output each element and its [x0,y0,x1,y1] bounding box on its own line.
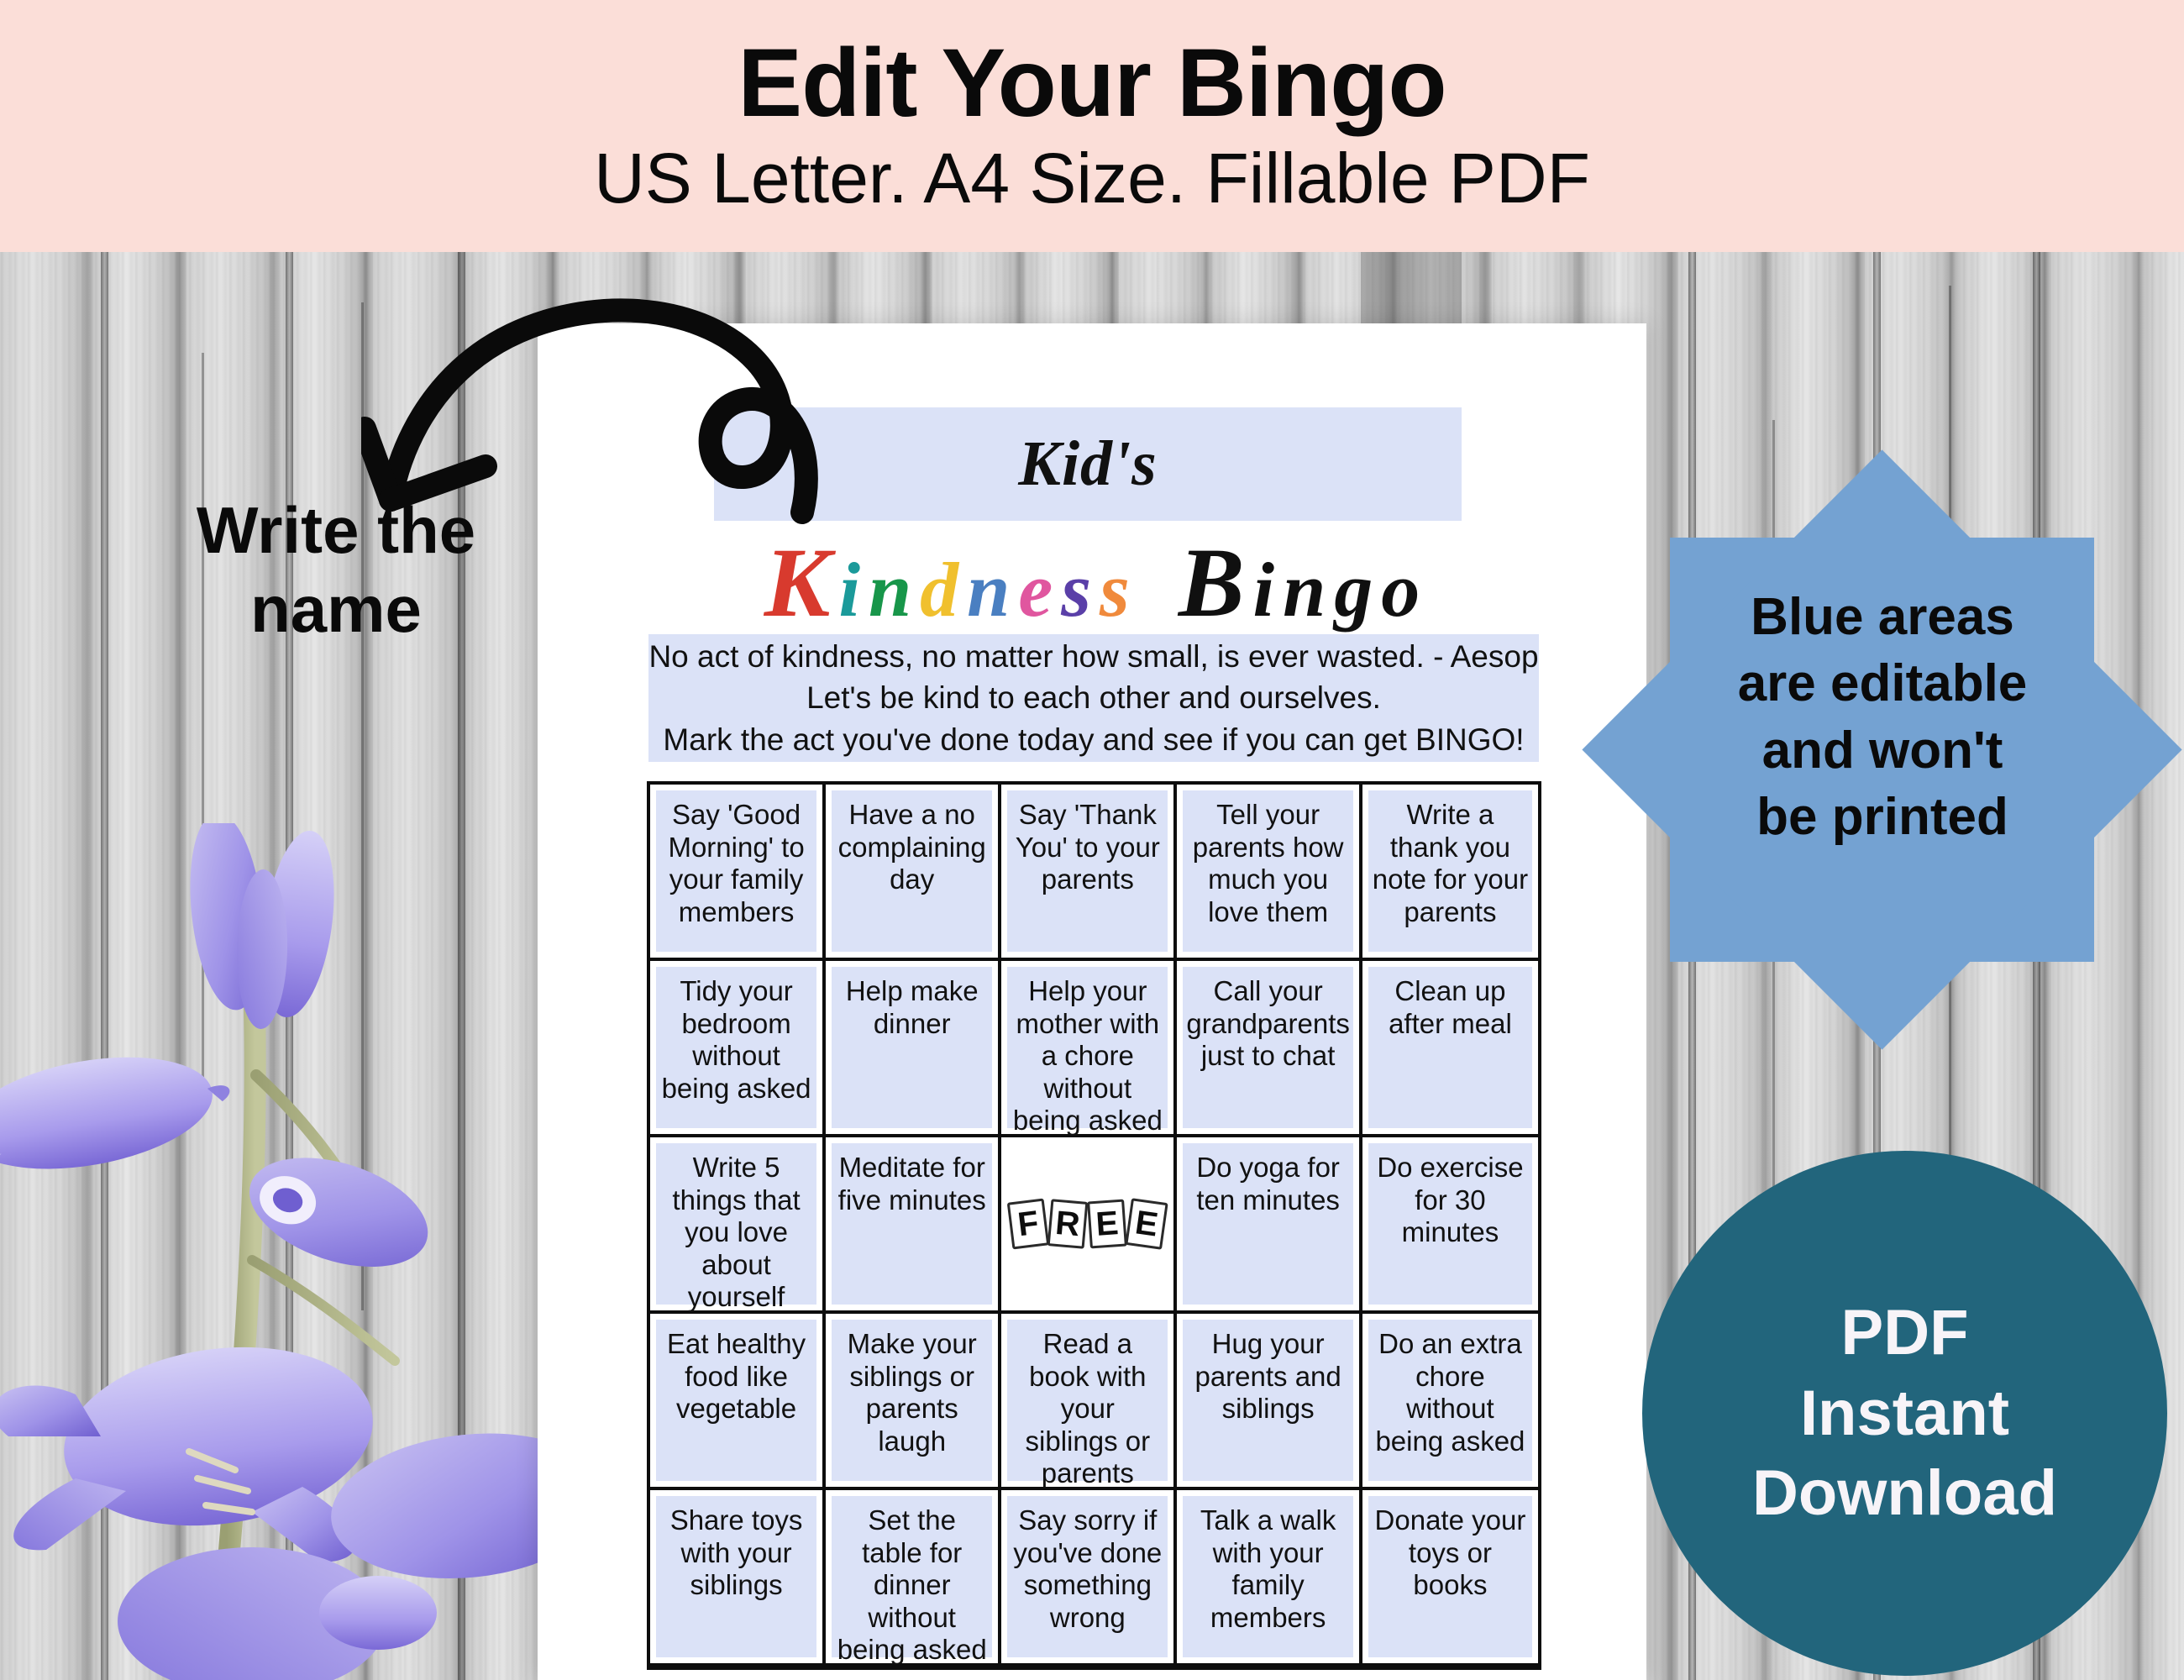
bingo-cell-text: Make your siblings or parents laugh [832,1328,992,1457]
bingo-cell[interactable]: Write 5 things that you love about yours… [650,1137,826,1314]
script-letter-s1: s [1057,551,1095,628]
quote-line-2: Let's be kind to each other and ourselve… [806,678,1381,717]
bingo-cell-text: Clean up after meal [1368,975,1532,1040]
bingo-cell[interactable]: Say 'Thank You' to your parents [1001,785,1177,961]
bingo-cell[interactable]: Make your siblings or parents laugh [826,1314,1001,1490]
wood-plank-seam [101,252,108,1680]
bingo-cell-text: Say 'Thank You' to your parents [1007,799,1168,896]
bingo-cell[interactable]: Say 'Good Morning' to your family member… [650,785,826,961]
bingo-cell-fill: Say sorry if you've done something wrong [1007,1496,1168,1657]
bingo-cell-text: Tidy your bedroom without being asked [656,975,816,1105]
quote-line-3: Mark the act you've done today and see i… [663,720,1524,759]
bingo-cell[interactable]: Share toys with your siblings [650,1490,826,1667]
bingo-cell-text: Donate your toys or books [1368,1504,1532,1602]
bingo-cell[interactable]: Help your mother with a chore without be… [1001,961,1177,1137]
free-letter-tile: E [1126,1198,1168,1250]
script-letter-k: K [760,533,835,633]
bingo-cell[interactable]: Tell your parents how much you love them [1177,785,1362,961]
kindness-bingo-script-title: KindnessBingo [596,533,1588,633]
bingo-cell-text: Write a thank you note for your parents [1368,799,1532,928]
script-letter-n1: n [864,551,916,628]
script-letter-o: o [1377,551,1424,628]
bingo-cell[interactable]: Write a thank you note for your parents [1362,785,1538,961]
bingo-cell-text: Meditate for five minutes [832,1152,992,1216]
bingo-cell[interactable]: Do an extra chore without being asked [1362,1314,1538,1490]
bingo-cell[interactable]: Clean up after meal [1362,961,1538,1137]
bingo-cell-fill: Have a no complaining day [832,790,992,952]
script-letter-s2: s [1095,551,1134,628]
bingo-cell-text: Read a book with your siblings or parent… [1007,1328,1168,1490]
pdf-instant-download-badge: PDF Instant Download [1642,1151,2167,1676]
bingo-cell[interactable]: Hug your parents and siblings [1177,1314,1362,1490]
bingo-cell-text: Have a no complaining day [832,799,992,896]
bingo-cell-text: Eat healthy food like vegetable [656,1328,816,1425]
bingo-cell[interactable]: Do exercise for 30 minutes [1362,1137,1538,1314]
bingo-cell-text: Hug your parents and siblings [1183,1328,1352,1425]
bingo-cell[interactable]: Do yoga for ten minutes [1177,1137,1362,1314]
script-letter-d: d [916,551,963,628]
kids-title-text: Kid's [1018,428,1158,501]
bingo-cell[interactable]: Meditate for five minutes [826,1137,1001,1314]
bingo-cell-text: Say 'Good Morning' to your family member… [656,799,816,928]
bingo-cell[interactable]: Eat healthy food like vegetable [650,1314,826,1490]
bingo-cell[interactable]: Talk a walk with your family members [1177,1490,1362,1667]
bingo-cell-fill: Tell your parents how much you love them [1183,790,1352,952]
bingo-cell-fill: Share toys with your siblings [656,1496,816,1657]
bingo-cell-fill: Hug your parents and siblings [1183,1320,1352,1481]
page-subtitle: US Letter. A4 Size. Fillable PDF [594,139,1590,217]
header-banner: Edit Your Bingo US Letter. A4 Size. Fill… [0,0,2184,252]
wood-crack [202,353,204,1109]
bingo-cell-text: Tell your parents how much you love them [1183,799,1352,928]
script-letter-g: g [1330,551,1377,628]
bingo-cell-text: Do an extra chore without being asked [1368,1328,1532,1457]
bingo-cell[interactable]: Have a no complaining day [826,785,1001,961]
bingo-cell-text: Do exercise for 30 minutes [1368,1152,1532,1249]
bingo-cell-fill: Say 'Thank You' to your parents [1007,790,1168,952]
badge-line-2: Instant [1800,1376,2009,1452]
bingo-cell[interactable]: Donate your toys or books [1362,1490,1538,1667]
starburst-line-2: are editable [1626,650,2139,717]
badge-line-1: PDF [1841,1295,1969,1371]
bingo-cell[interactable]: Tidy your bedroom without being asked [650,961,826,1137]
bingo-grid: Say 'Good Morning' to your family member… [647,781,1541,1670]
bingo-cell-fill: Say 'Good Morning' to your family member… [656,790,816,952]
quote-field[interactable]: No act of kindness, no matter how small,… [648,634,1539,762]
bingo-cell-fill: Do an extra chore without being asked [1368,1320,1532,1481]
bingo-cell[interactable]: Read a book with your siblings or parent… [1001,1314,1177,1490]
bingo-cell-fill: Call your grandparents just to chat [1183,967,1352,1128]
quote-line-1: No act of kindness, no matter how small,… [648,637,1538,676]
bingo-cell-text: Help your mother with a chore without be… [1007,975,1168,1137]
bingo-cell-fill: Talk a walk with your family members [1183,1496,1352,1657]
bingo-cell-fill: Do yoga for ten minutes [1183,1143,1352,1305]
bingo-cell[interactable]: Help make dinner [826,961,1001,1137]
bingo-cell-fill: Eat healthy food like vegetable [656,1320,816,1481]
script-letter-e: e [1014,551,1057,628]
page-title: Edit Your Bingo [738,34,1446,133]
bingo-cell-fill: Tidy your bedroom without being asked [656,967,816,1128]
bingo-cell-fill: FREE [1007,1143,1168,1305]
wood-plank-seam [286,252,293,1680]
bingo-cell-fill: Write 5 things that you love about yours… [656,1143,816,1305]
bingo-cell-fill: Make your siblings or parents laugh [832,1320,992,1481]
script-letter-i2: i [1249,551,1279,628]
bingo-cell[interactable]: Call your grandparents just to chat [1177,961,1362,1137]
write-name-line-1: Write the [101,491,571,570]
free-letter-tile: R [1047,1199,1089,1249]
bingo-cell-text: Do yoga for ten minutes [1183,1152,1352,1216]
bingo-cell-fill: Clean up after meal [1368,967,1532,1128]
bingo-cell[interactable]: Set the table for dinner without being a… [826,1490,1001,1667]
bingo-cell-text: Share toys with your siblings [656,1504,816,1602]
bingo-cell-fill: Set the table for dinner without being a… [832,1496,992,1657]
free-letter-tile: E [1087,1200,1127,1249]
bingo-cell[interactable]: Say sorry if you've done something wrong [1001,1490,1177,1667]
script-letter-b: B [1174,533,1249,633]
bingo-cell-fill: Help your mother with a chore without be… [1007,967,1168,1128]
bingo-cell-text: Set the table for dinner without being a… [832,1504,992,1667]
blue-areas-starburst-badge: Blue areas are editable and won't be pri… [1579,437,2184,1134]
bingo-cell-fill: Do exercise for 30 minutes [1368,1143,1532,1305]
write-name-line-2: name [101,570,571,649]
script-letter-n3: n [1278,551,1330,628]
bingo-free-space[interactable]: FREE [1001,1137,1177,1314]
free-label: FREE [1010,1200,1165,1247]
free-letter-tile: F [1007,1199,1049,1250]
bingo-cell-fill: Read a book with your siblings or parent… [1007,1320,1168,1481]
script-letter-n2: n [963,551,1014,628]
script-letter-i: i [834,551,864,628]
bingo-cell-text: Say sorry if you've done something wrong [1007,1504,1168,1634]
badge-line-3: Download [1752,1456,2057,1531]
bingo-cell-fill: Donate your toys or books [1368,1496,1532,1657]
starburst-line-1: Blue areas [1626,584,2139,650]
bingo-cell-text: Talk a walk with your family members [1183,1504,1352,1634]
bingo-cell-text: Write 5 things that you love about yours… [656,1152,816,1314]
bingo-cell-text: Call your grandparents just to chat [1183,975,1352,1073]
bingo-cell-fill: Meditate for five minutes [832,1143,992,1305]
write-the-name-note: Write the name [101,491,571,648]
starburst-line-3: and won't [1626,717,2139,784]
bingo-cell-fill: Write a thank you note for your parents [1368,790,1532,952]
starburst-line-4: be printed [1626,784,2139,850]
bingo-cell-fill: Help make dinner [832,967,992,1128]
bingo-cell-text: Help make dinner [832,975,992,1040]
starburst-text: Blue areas are editable and won't be pri… [1626,584,2139,850]
